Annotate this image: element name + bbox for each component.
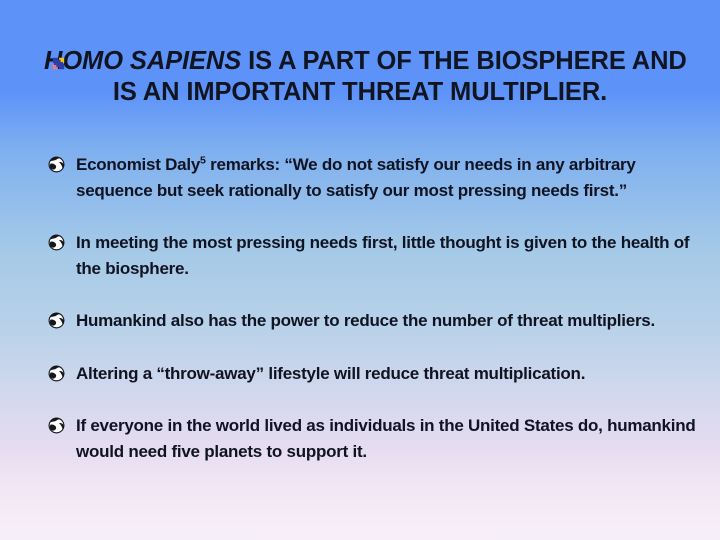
list-item-label: If everyone in the world lived as indivi… bbox=[76, 413, 696, 464]
list-item: Economist Daly5 remarks: “We do not sati… bbox=[48, 152, 696, 203]
globe-icon bbox=[48, 156, 65, 173]
list-item: If everyone in the world lived as indivi… bbox=[48, 413, 696, 464]
list-item-label: Humankind also has the power to reduce t… bbox=[76, 308, 696, 334]
list-item-label: In meeting the most pressing needs first… bbox=[76, 230, 696, 281]
slide-body: Economist Daly5 remarks: “We do not sati… bbox=[48, 152, 696, 464]
globe-icon bbox=[48, 234, 65, 251]
list-item: Humankind also has the power to reduce t… bbox=[48, 308, 696, 334]
title-line-2: IS AN IMPORTANT THREAT MULTIPLIER. bbox=[40, 77, 680, 108]
globe-icon bbox=[48, 312, 65, 329]
list-item-label: Economist Daly5 remarks: “We do not sati… bbox=[76, 152, 696, 203]
title-emphasis-homo-sapiens: HOMO SAPIENS bbox=[44, 47, 241, 75]
title-line-1: HOMO SAPIENS IS A PART OF THE BIOSPHERE … bbox=[40, 46, 680, 77]
list-item: In meeting the most pressing needs first… bbox=[48, 230, 696, 281]
slide-title: HOMO SAPIENS IS A PART OF THE BIOSPHERE … bbox=[40, 46, 680, 108]
globe-icon bbox=[48, 417, 65, 434]
list-item-label: Altering a “throw-away” lifestyle will r… bbox=[76, 361, 696, 387]
pinwheel-square-icon bbox=[52, 57, 65, 70]
presentation-slide: HOMO SAPIENS IS A PART OF THE BIOSPHERE … bbox=[0, 0, 720, 540]
bullet-1-text-before: Economist Daly bbox=[76, 155, 200, 174]
list-item: Altering a “throw-away” lifestyle will r… bbox=[48, 361, 696, 387]
title-line-1-rest: IS A PART OF THE BIOSPHERE AND bbox=[241, 47, 687, 75]
globe-icon bbox=[48, 365, 65, 382]
